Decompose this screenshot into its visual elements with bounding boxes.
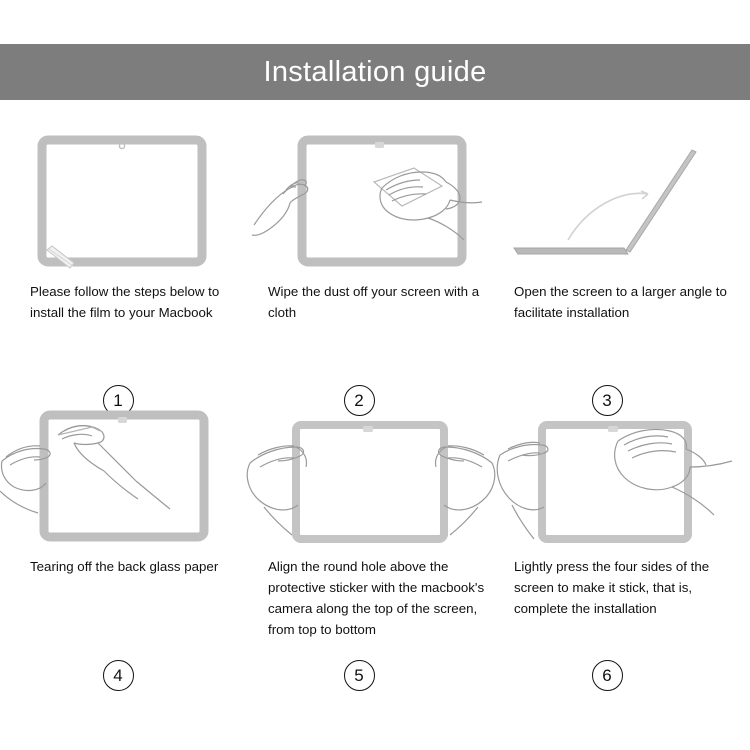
step-5-caption: Align the round hole above the protectiv… bbox=[246, 556, 496, 640]
installation-guide-page: Installation guide Please follow the ste… bbox=[0, 0, 750, 750]
step-4-number-wrap: 4 bbox=[0, 660, 243, 691]
align-film-two-hands-icon bbox=[246, 405, 496, 550]
step-2-illustration bbox=[246, 130, 496, 275]
step-5-illustration bbox=[246, 405, 496, 550]
step-card-5: Align the round hole above the protectiv… bbox=[246, 405, 496, 640]
step-2-caption: Wipe the dust off your screen with a clo… bbox=[246, 281, 496, 323]
laptop-open-angle-icon bbox=[496, 130, 746, 275]
step-6-number-wrap: 6 bbox=[482, 660, 732, 691]
step-3-illustration bbox=[496, 130, 746, 275]
step-3-caption: Open the screen to a larger angle to fac… bbox=[496, 281, 746, 323]
step-1-caption: Please follow the steps below to install… bbox=[0, 281, 250, 323]
step-6-caption: Lightly press the four sides of the scre… bbox=[496, 556, 746, 619]
step-number-badge-5: 5 bbox=[344, 660, 375, 691]
step-number-badge-6: 6 bbox=[592, 660, 623, 691]
wipe-screen-with-cloth-icon bbox=[246, 130, 496, 275]
step-card-6: Lightly press the four sides of the scre… bbox=[496, 405, 746, 619]
step-card-3: Open the screen to a larger angle to fac… bbox=[496, 130, 746, 323]
step-card-2: Wipe the dust off your screen with a clo… bbox=[246, 130, 496, 323]
press-screen-icon bbox=[496, 405, 746, 550]
step-4-caption: Tearing off the back glass paper bbox=[0, 556, 250, 577]
step-1-illustration bbox=[0, 130, 250, 275]
tablet-screen-icon bbox=[0, 130, 250, 275]
step-5-number-wrap: 5 bbox=[234, 660, 484, 691]
page-title: Installation guide bbox=[263, 58, 486, 87]
step-6-illustration bbox=[496, 405, 746, 550]
step-number-badge-4: 4 bbox=[103, 660, 134, 691]
step-4-illustration bbox=[0, 405, 250, 550]
step-card-1: Please follow the steps below to install… bbox=[0, 130, 250, 323]
tear-back-paper-icon bbox=[0, 405, 250, 550]
steps-grid: Please follow the steps below to install… bbox=[0, 100, 750, 750]
step-card-4: Tearing off the back glass paper 4 bbox=[0, 405, 250, 577]
header-banner: Installation guide bbox=[0, 44, 750, 100]
